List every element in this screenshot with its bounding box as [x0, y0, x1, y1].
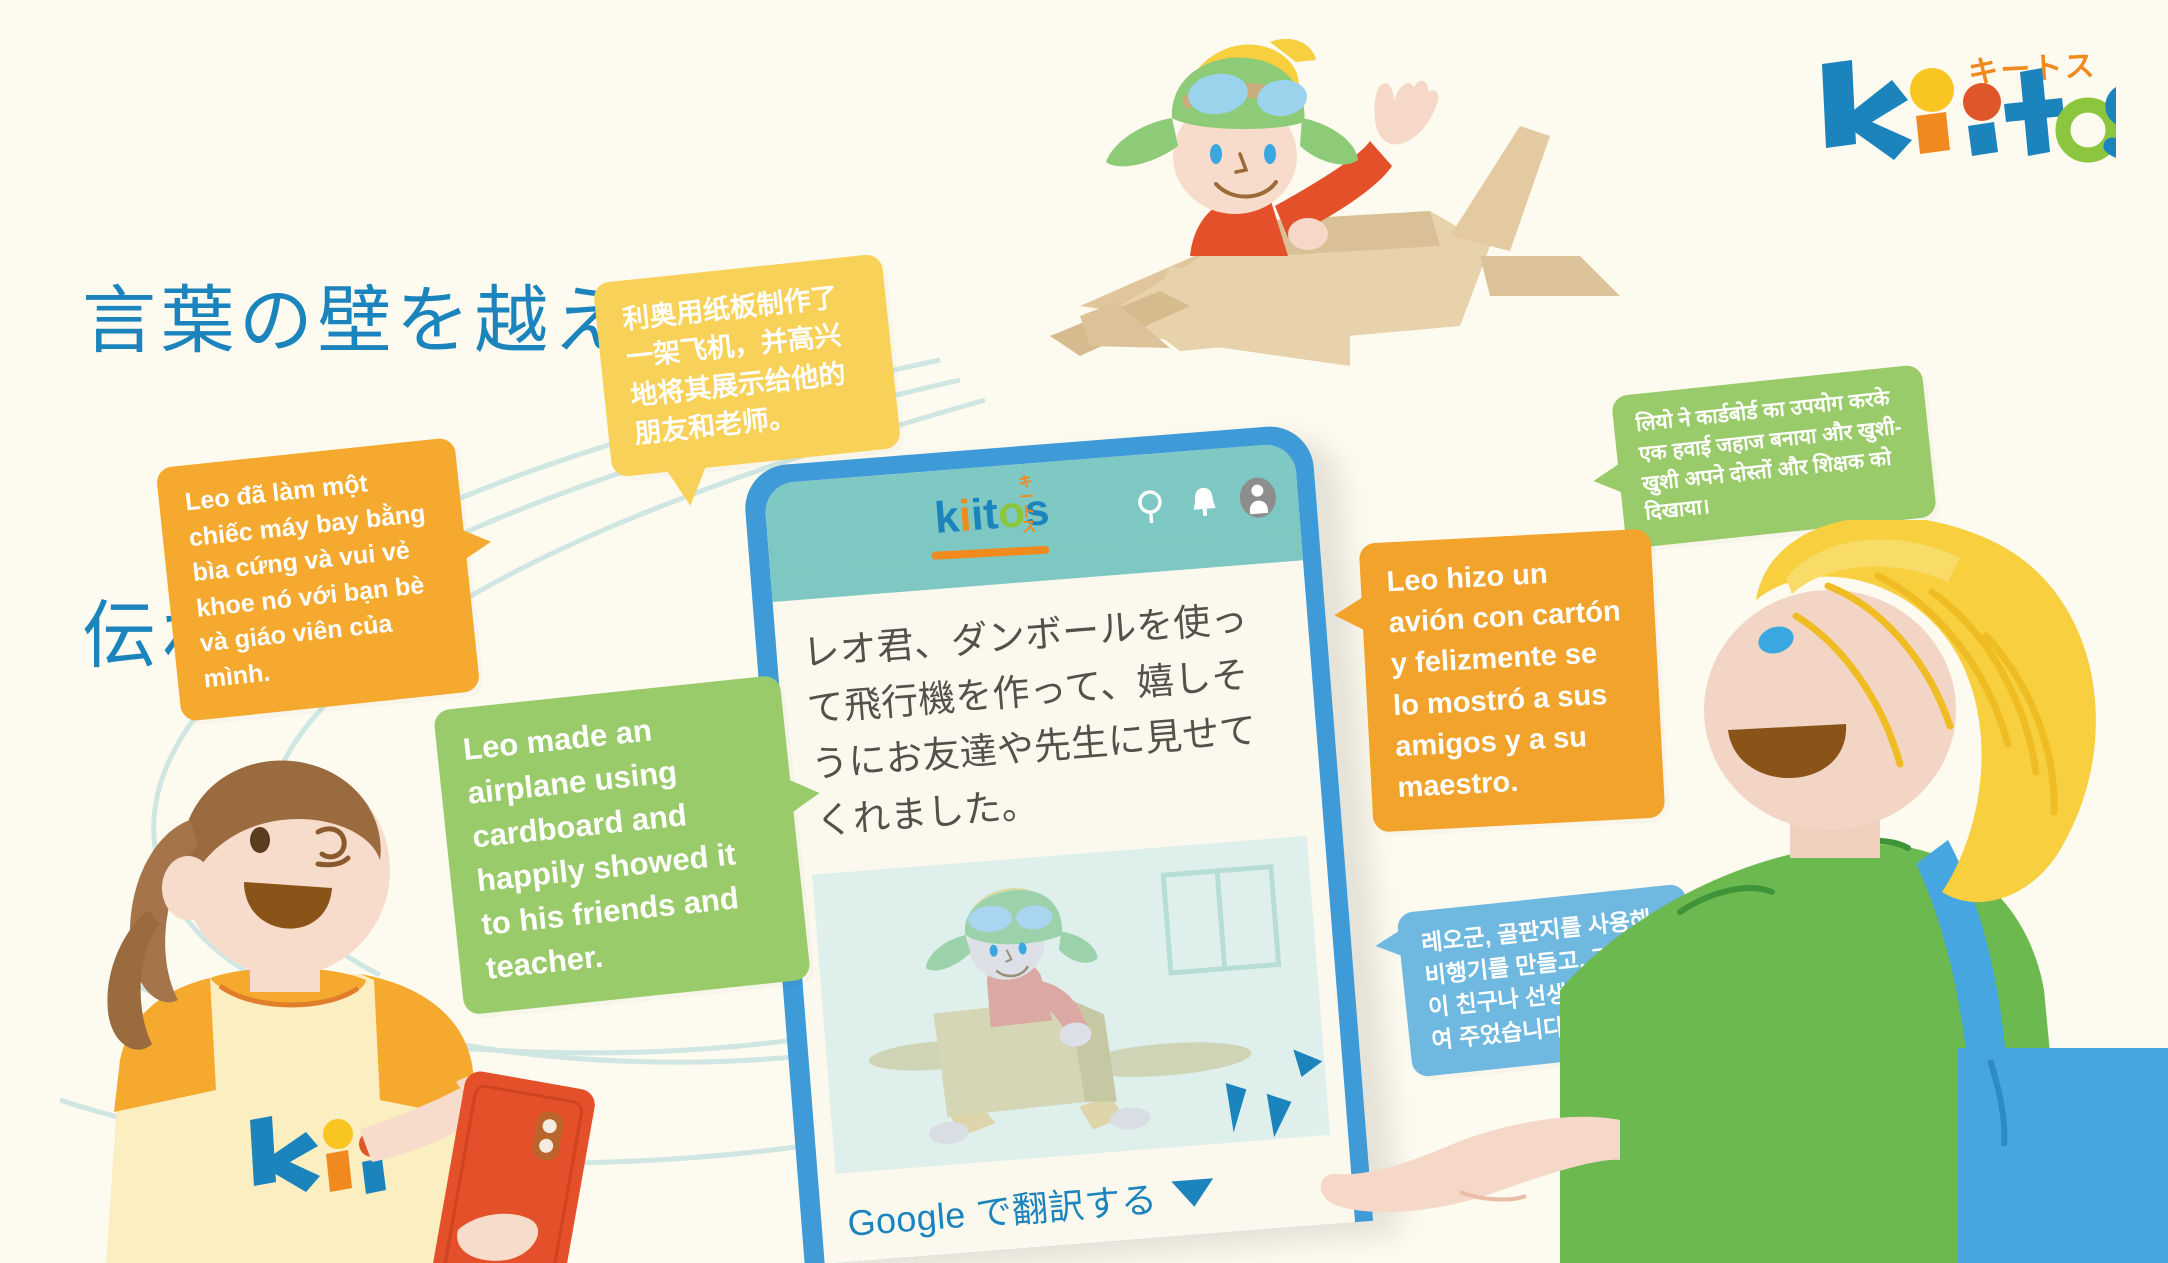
bubble-tail [786, 775, 822, 814]
poster-canvas: 言葉の壁を越えて 伝わる想い キートス [0, 0, 2168, 1263]
search-icon[interactable] [1135, 488, 1170, 524]
bubble-tail [1333, 596, 1367, 634]
app-logo-kana: キートス [1017, 473, 1051, 535]
post-image[interactable] [812, 836, 1330, 1174]
girl-with-phone-illustration [60, 760, 600, 1263]
woman-pointing-illustration [1560, 520, 2168, 1263]
app-logo: kiitos キートス [933, 488, 1051, 541]
bubble-chinese: 利奥用纸板制作了一架飞机，并高兴地将其展示给他的朋友和老师。 [593, 253, 902, 478]
brand-logo: キートス [1816, 48, 2116, 168]
phone-mockup: kiitos キートス レオ君、ダンボールを使って飛行機を作って [742, 423, 1373, 1263]
app-header-icons [1135, 476, 1278, 527]
bubble-tail [1592, 462, 1625, 497]
translate-label: Google で翻訳する [845, 1171, 1159, 1247]
app-logo-underline [931, 546, 1049, 560]
bell-icon[interactable] [1187, 484, 1222, 520]
bubble-vietnamese-text: Leo đã làm một chiếc máy bay bằng bìa cứ… [184, 469, 427, 693]
avatar-icon[interactable] [1238, 476, 1277, 519]
bubble-chinese-text: 利奥用纸板制作了一架飞机，并高兴地将其展示给他的朋友和老师。 [621, 282, 847, 449]
bubble-tail [664, 462, 712, 508]
brand-wordmark [1816, 60, 2116, 170]
post-body-text: レオ君、ダンボールを使って飛行機を作って、嬉しそうにお友達や先生に見せてくれまし… [773, 560, 1324, 870]
cardboard-airplane-illustration [1020, 6, 1660, 426]
bubble-tail [459, 526, 492, 561]
bubble-vietnamese: Leo đã làm một chiếc máy bay bằng bìa cứ… [155, 437, 480, 722]
pointing-hand [1320, 1080, 1620, 1263]
bubble-hindi-text: लियो ने कार्डबोर्ड का उपयोग करके एक हवाई… [1635, 387, 1903, 525]
bubble-tail [1374, 929, 1405, 960]
chevron-down-icon[interactable] [1172, 1179, 1216, 1209]
phone-screen: kiitos キートス レオ君、ダンボールを使って飛行機を作って [763, 443, 1355, 1263]
